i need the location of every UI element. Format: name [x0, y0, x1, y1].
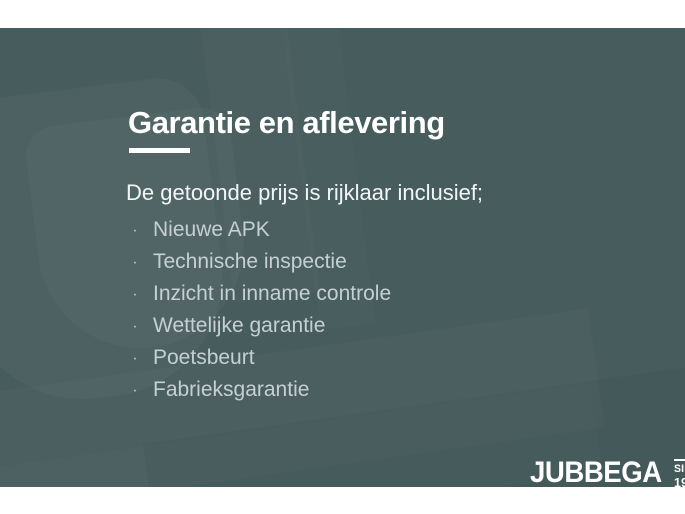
logo-badge-rule	[674, 459, 685, 461]
bullet-dot-icon: ·	[130, 214, 140, 246]
logo-badge-since-label: SINDS	[674, 463, 685, 475]
list-item: · Poetsbeurt	[128, 342, 391, 374]
bullet-dot-icon: ·	[130, 342, 140, 374]
logo-wordmark: JUBBEGA	[530, 458, 662, 487]
slide-canvas: Garantie en aflevering De getoonde prijs…	[0, 28, 685, 487]
list-item-label: Poetsbeurt	[153, 346, 255, 369]
bullet-dot-icon: ·	[130, 374, 140, 406]
list-item: · Wettelijke garantie	[128, 310, 391, 342]
logo-since-badge: SINDS 1924	[674, 458, 685, 487]
list-item-label: Inzicht in inname controle	[153, 282, 391, 305]
slide-content: Garantie en aflevering De getoonde prijs…	[0, 28, 685, 487]
list-item: · Nieuwe APK	[128, 214, 391, 246]
list-item-label: Nieuwe APK	[153, 218, 270, 241]
jubbega-logo: JUBBEGA SINDS 1924	[530, 458, 685, 487]
list-item-label: Wettelijke garantie	[153, 314, 325, 337]
title-underline-accent	[129, 148, 190, 153]
list-item: · Technische inspectie	[128, 246, 391, 278]
slide-frame: Garantie en aflevering De getoonde prijs…	[0, 0, 685, 514]
page-title: Garantie en aflevering	[128, 105, 445, 141]
list-item: · Fabrieksgarantie	[128, 374, 391, 406]
logo-badge-year-label: 1924	[674, 476, 685, 487]
list-item-label: Fabrieksgarantie	[153, 378, 309, 401]
bullet-dot-icon: ·	[130, 310, 140, 342]
bullet-dot-icon: ·	[130, 246, 140, 278]
bullet-dot-icon: ·	[130, 278, 140, 310]
list-item-label: Technische inspectie	[153, 250, 347, 273]
inclusions-list: · Nieuwe APK · Technische inspectie · In…	[128, 214, 391, 406]
intro-text: De getoonde prijs is rijklaar inclusief;	[126, 180, 483, 206]
list-item: · Inzicht in inname controle	[128, 278, 391, 310]
